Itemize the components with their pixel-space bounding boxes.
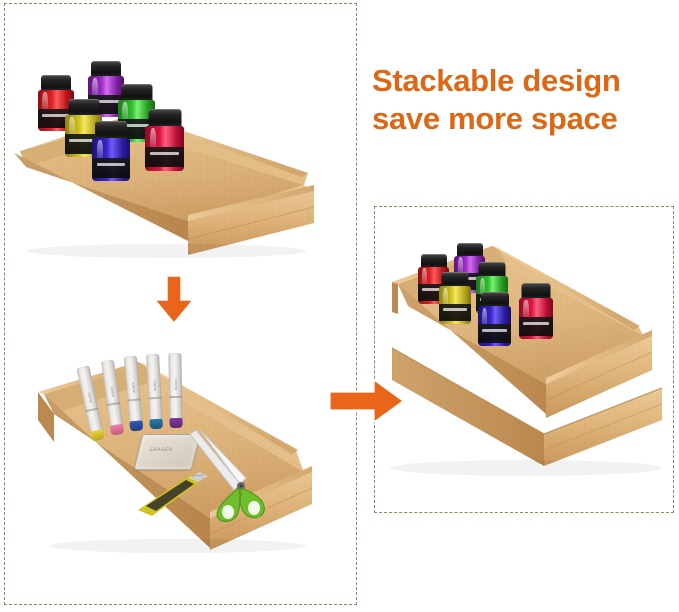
bottle-label: [145, 147, 184, 168]
marker-purple: COPIC: [168, 353, 182, 427]
crimson-ink-bottle: [519, 283, 553, 339]
bottle-label: [519, 317, 553, 336]
scissors: [186, 428, 278, 524]
bottle-body: [519, 298, 553, 339]
crimson-ink-bottle: [145, 109, 184, 171]
bottle-label: [92, 158, 130, 178]
bottle-body: [145, 126, 184, 171]
bottle-label: [439, 304, 471, 321]
headline: Stackable design save more space: [372, 62, 672, 139]
eraser-label: ERASER: [149, 447, 173, 453]
marker-tip: [169, 418, 182, 428]
headline-line-2: save more space: [372, 100, 672, 138]
headline-line-1: Stackable design: [372, 62, 672, 100]
marker-text: COPIC: [152, 380, 157, 391]
bottle-body: [478, 306, 511, 346]
marker-text: COPIC: [173, 379, 177, 390]
blue-ink-bottle: [478, 292, 511, 346]
blue-ink-bottle: [92, 121, 130, 181]
tray-top-left: [2, 55, 322, 255]
marker-text: COPIC: [131, 382, 136, 393]
tray-bottom-left: COPIC COPIC COPIC COPIC: [28, 322, 328, 562]
marker-tip: [129, 421, 143, 432]
marker-tip: [149, 419, 162, 429]
bottle-label: [478, 324, 511, 342]
marker-band: [169, 396, 182, 398]
bottle-body: [92, 138, 130, 181]
marker-text: COPIC: [109, 386, 114, 397]
arrow-down-icon: [152, 276, 196, 324]
yellow-ink-bottle: [439, 272, 471, 324]
bottle-body: [439, 286, 471, 324]
tray-stacked-right: [386, 228, 674, 496]
infographic-canvas: Stackable design save more space: [0, 0, 679, 612]
